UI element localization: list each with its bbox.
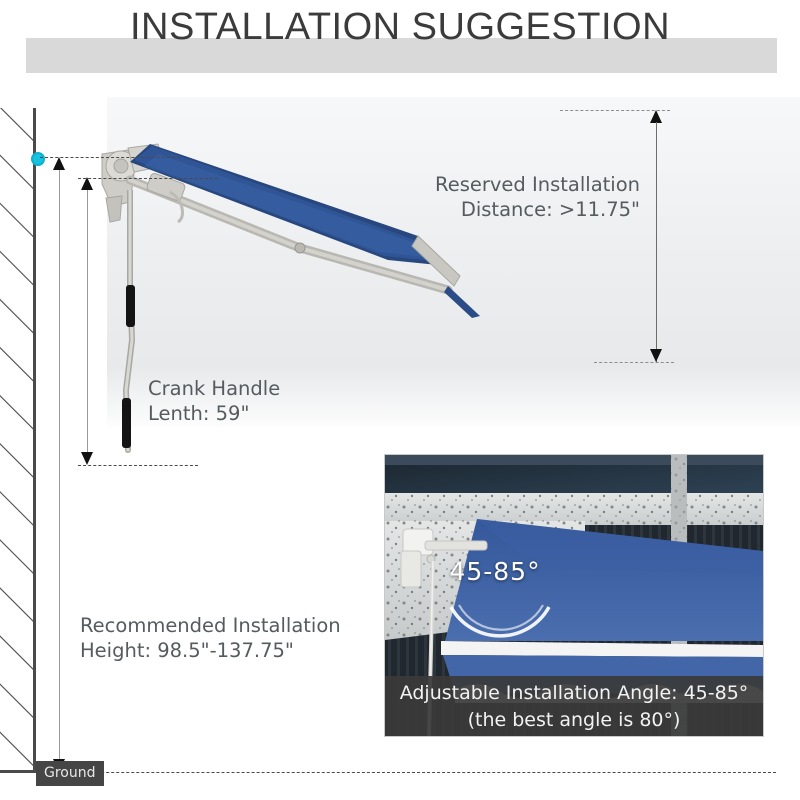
photo-caption: Adjustable Installation Angle: 45-85° (t… [385, 676, 763, 736]
infographic-root: INSTALLATION SUGGESTION [0, 0, 800, 800]
photo-angle-overlay: 45-85° [430, 557, 560, 586]
ground-dash-line [36, 772, 776, 773]
callout-reserved-installation-distance: Reserved Installation Distance: >11.75" [360, 172, 640, 222]
height-arrow-up [53, 157, 65, 170]
crank-arrow-down [81, 452, 93, 465]
callout-crank-handle-length: Crank Handle Lenth: 59" [148, 376, 378, 426]
crank-arrow-up [81, 177, 93, 190]
wall-hatching [0, 108, 36, 773]
reserved-distance-line [656, 122, 657, 362]
crank-handle [112, 190, 152, 475]
reserved-dash-bottom [594, 362, 674, 363]
recommended-height-line [59, 170, 60, 772]
leader-dash-second [78, 178, 218, 179]
wall-anchor-point-icon [31, 152, 45, 166]
callout-recommended-installation-height: Recommended Installation Height: 98.5"-1… [80, 613, 410, 663]
wall-base-line [0, 770, 36, 773]
page-title: INSTALLATION SUGGESTION [0, 6, 800, 49]
leader-dash-crank-bottom [78, 465, 198, 466]
wall-face-line [33, 108, 36, 773]
ground-label: Ground [36, 761, 104, 786]
reserved-arrow-down [650, 349, 662, 362]
crank-length-line [87, 190, 88, 452]
